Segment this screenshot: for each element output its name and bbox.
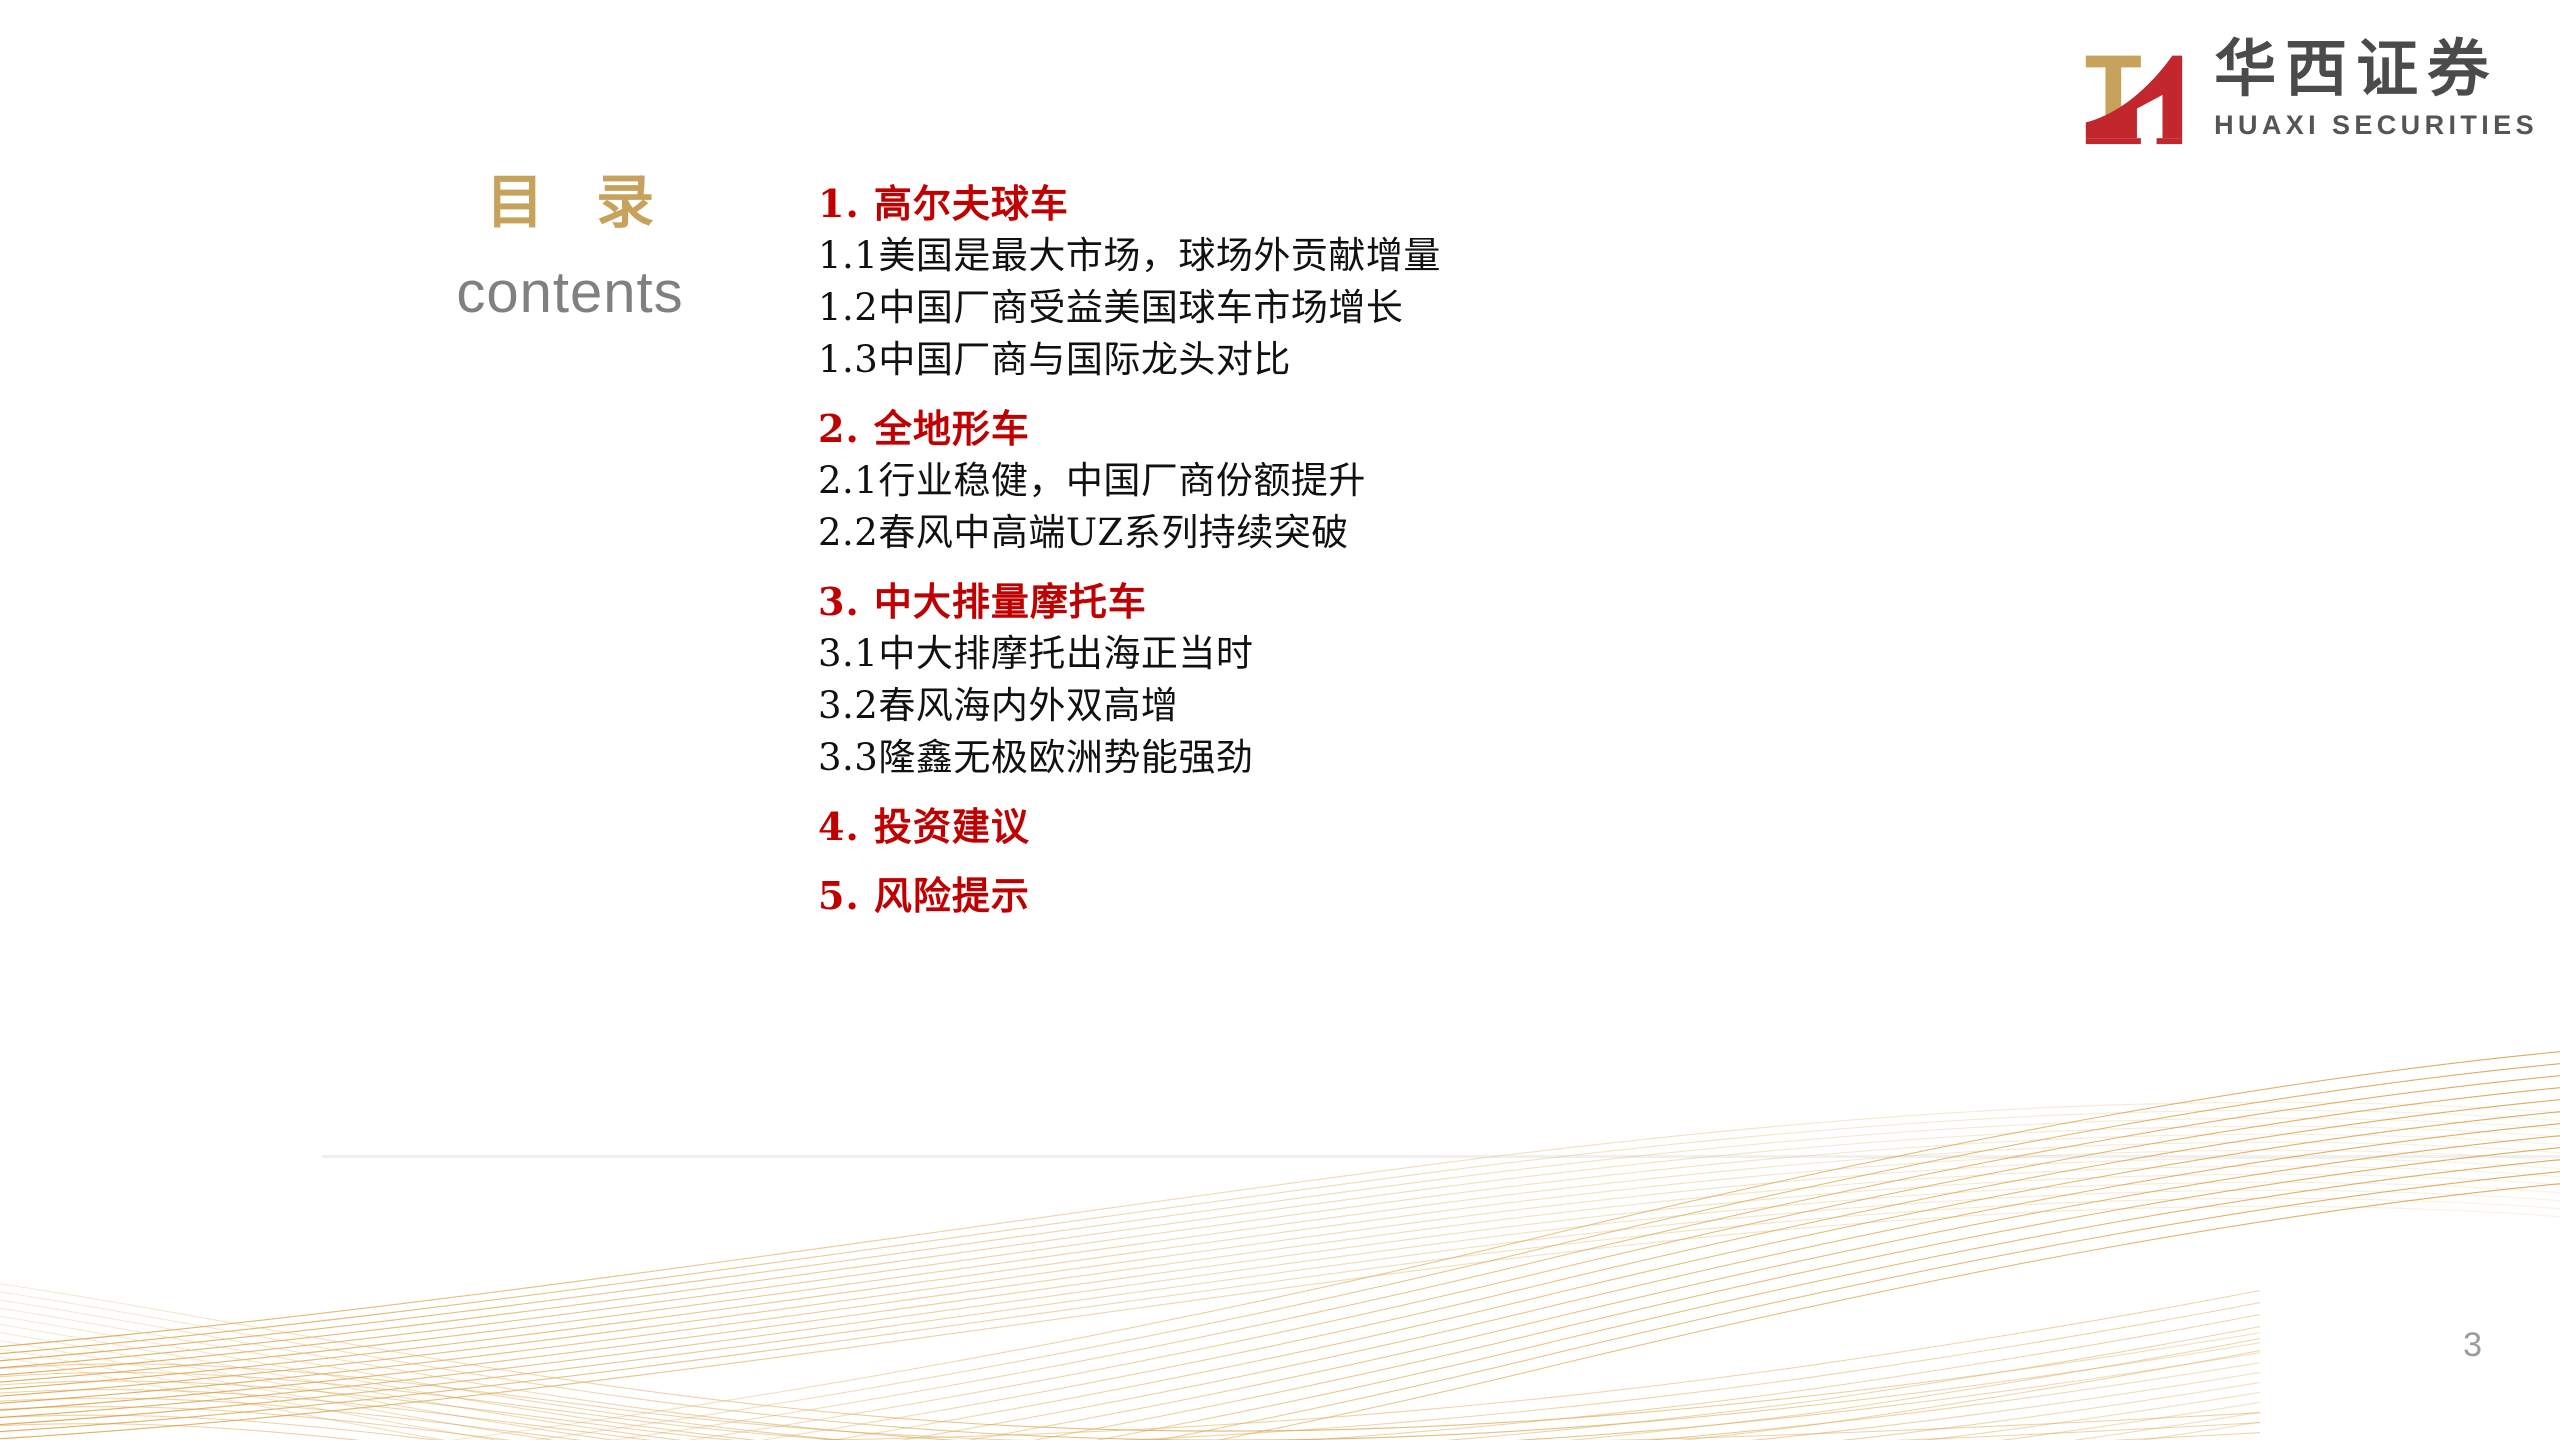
- toc-sub-item[interactable]: 3.1中大排摩托出海正当时: [818, 628, 1918, 680]
- table-of-contents: 1. 高尔夫球车 1.1美国是最大市场，球场外贡献增量 1.2中国厂商受益美国球…: [818, 178, 1918, 922]
- toc-group: 2. 全地形车 2.1行业稳健，中国厂商份额提升 2.2春风中高端UZ系列持续突…: [818, 403, 1918, 559]
- page-number: 3: [2463, 1328, 2482, 1362]
- brand-name-cn: 华西证券: [2214, 38, 2498, 100]
- toc-sub-item[interactable]: 2.1行业稳健，中国厂商份额提升: [818, 455, 1918, 507]
- toc-sub-item[interactable]: 3.3隆鑫无极欧洲势能强劲: [818, 732, 1918, 784]
- toc-group: 5. 风险提示: [818, 870, 1918, 922]
- huaxi-h-monogram-icon: [2074, 30, 2192, 148]
- slide-root: 华西证券 HUAXI SECURITIES 目 录 contents 1. 高尔…: [0, 0, 2560, 1440]
- toc-section-heading[interactable]: 2. 全地形车: [818, 403, 1918, 455]
- toc-sub-item[interactable]: 1.1美国是最大市场，球场外贡献增量: [818, 230, 1918, 282]
- toc-sub-item[interactable]: 1.2中国厂商受益美国球车市场增长: [818, 282, 1918, 334]
- toc-sub-item[interactable]: 1.3中国厂商与国际龙头对比: [818, 334, 1918, 386]
- toc-group: 1. 高尔夫球车 1.1美国是最大市场，球场外贡献增量 1.2中国厂商受益美国球…: [818, 178, 1918, 386]
- toc-section-heading[interactable]: 3. 中大排量摩托车: [818, 576, 1918, 628]
- toc-group: 4. 投资建议: [818, 801, 1918, 853]
- page-title-en: contents: [380, 261, 760, 325]
- brand-logo: 华西证券 HUAXI SECURITIES: [2074, 30, 2538, 148]
- toc-group: 3. 中大排量摩托车 3.1中大排摩托出海正当时 3.2春风海内外双高增 3.3…: [818, 576, 1918, 784]
- toc-section-heading[interactable]: 1. 高尔夫球车: [818, 178, 1918, 230]
- brand-wordmark: 华西证券 HUAXI SECURITIES: [2214, 30, 2538, 139]
- horizontal-divider: [322, 1155, 2560, 1158]
- page-number-plate: [2260, 1225, 2560, 1440]
- toc-section-heading[interactable]: 5. 风险提示: [818, 870, 1918, 922]
- page-title-cn: 目 录: [380, 172, 760, 233]
- page-title: 目 录 contents: [380, 172, 760, 325]
- toc-sub-item[interactable]: 2.2春风中高端UZ系列持续突破: [818, 507, 1918, 559]
- toc-section-heading[interactable]: 4. 投资建议: [818, 801, 1918, 853]
- toc-sub-item[interactable]: 3.2春风海内外双高增: [818, 680, 1918, 732]
- brand-name-en: HUAXI SECURITIES: [2214, 112, 2538, 139]
- decorative-wave-graphic: [0, 1020, 2560, 1440]
